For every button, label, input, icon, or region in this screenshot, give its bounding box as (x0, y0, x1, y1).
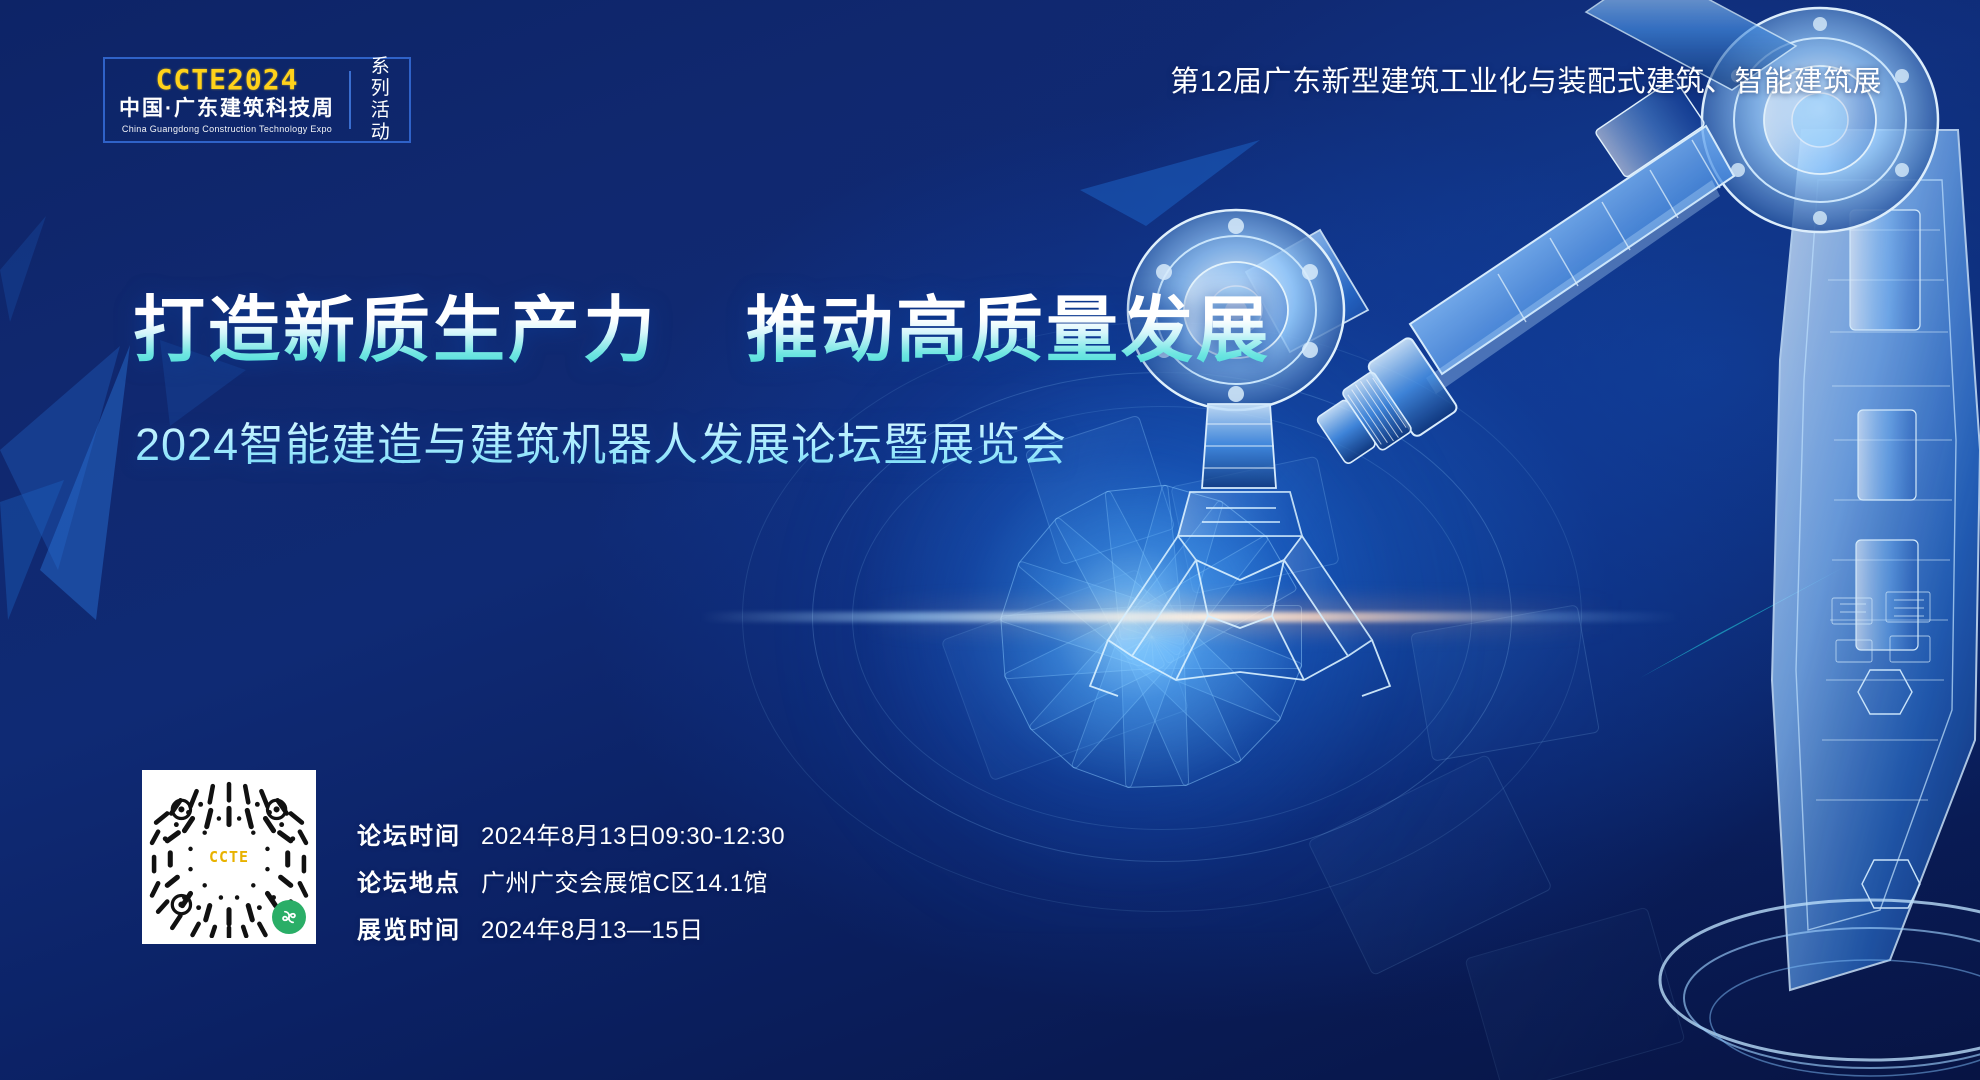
info-value: 2024年8月13日09:30-12:30 (481, 816, 785, 851)
qr-code-pattern: CCTE (148, 776, 310, 938)
info-value: 2024年8月13—15日 (481, 910, 704, 945)
wechat-glyph (278, 906, 300, 928)
logo-wordmark: CCTE2024 (119, 66, 335, 94)
info-value: 广州广交会展馆C区14.1馆 (481, 863, 768, 898)
logo-wordmark-block: CCTE2024 中国·广东建筑科技周 China Guangdong Cons… (105, 62, 345, 138)
headline-part-1: 打造新质生产力 (133, 291, 658, 371)
exhibition-title: 第12届广东新型建筑工业化与装配式建筑、智能建筑展 (1170, 58, 1882, 100)
logo-divider (349, 71, 351, 129)
subheadline: 2024智能建造与建筑机器人发展论坛暨展览会 (135, 408, 1067, 473)
info-row: 论坛时间 2024年8月13日09:30-12:30 (357, 816, 785, 851)
robot-arm-illustration (990, 0, 1980, 1080)
headline: 打造新质生产力 推动高质量发展 (133, 292, 1271, 371)
event-logo: CCTE2024 中国·广东建筑科技周 China Guangdong Cons… (103, 57, 411, 143)
info-row: 论坛地点 广州广交会展馆C区14.1馆 (357, 863, 785, 898)
logo-series-label: 系列活动 (355, 56, 409, 143)
wechat-miniprogram-icon (272, 900, 306, 934)
qr-center-label: CCTE (209, 848, 249, 866)
info-label: 论坛时间 (357, 816, 481, 851)
info-row: 展览时间 2024年8月13—15日 (357, 910, 785, 945)
poster-canvas: CCTE2024 中国·广东建筑科技周 China Guangdong Cons… (0, 0, 1980, 1080)
info-label: 论坛地点 (357, 863, 481, 898)
qr-code[interactable]: CCTE (142, 770, 316, 944)
info-label: 展览时间 (357, 910, 481, 945)
logo-name-en: China Guangdong Construction Technology … (119, 124, 335, 134)
headline-part-2: 推动高质量发展 (746, 291, 1271, 371)
logo-name-cn: 中国·广东建筑科技周 (119, 96, 335, 122)
event-info-list: 论坛时间 2024年8月13日09:30-12:30 论坛地点 广州广交会展馆C… (357, 816, 785, 957)
